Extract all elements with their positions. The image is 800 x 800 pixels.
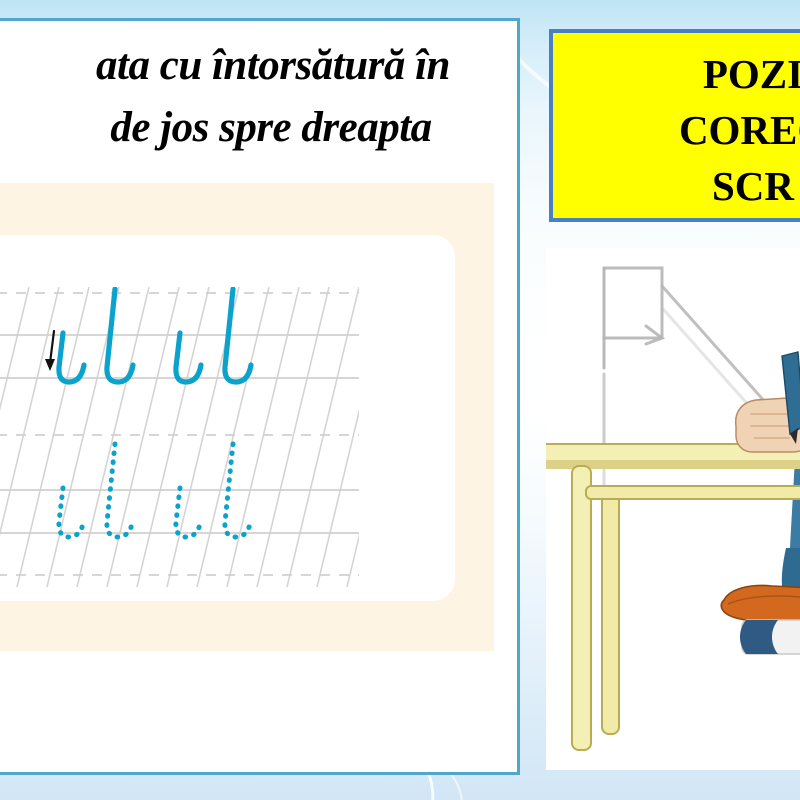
glyph-u-dotted-1 (59, 488, 84, 537)
slide-canvas: ata cu întorsătură în de jos spre dreapt… (0, 0, 800, 800)
desk-rail (586, 486, 800, 499)
posture-illustration-svg (546, 248, 800, 770)
left-content-panel: ata cu întorsătură în de jos spre dreapt… (0, 18, 520, 775)
posture-heading-text: POZI COREC SCR (609, 46, 800, 214)
posture-heading-line-3: SCR (712, 163, 794, 209)
handwriting-practice-grid (0, 287, 359, 587)
page-title: ata cu întorsătură în de jos spre dreapt… (0, 35, 520, 159)
page-title-line-1: ata cu întorsătură în (23, 35, 520, 97)
desk-leg-rear-left (602, 486, 619, 734)
posture-heading-box: POZI COREC SCR (549, 29, 800, 222)
grid-lines (0, 287, 359, 587)
handwriting-grid-svg (0, 287, 359, 587)
posture-heading-line-1: POZI (703, 51, 800, 97)
posture-illustration-panel (546, 248, 800, 770)
desk-leg-front-left (572, 466, 591, 750)
page-title-line-2: de jos spre dreapta (19, 97, 520, 159)
child-shoe (721, 586, 800, 624)
posture-heading-line-2: COREC (679, 107, 800, 153)
